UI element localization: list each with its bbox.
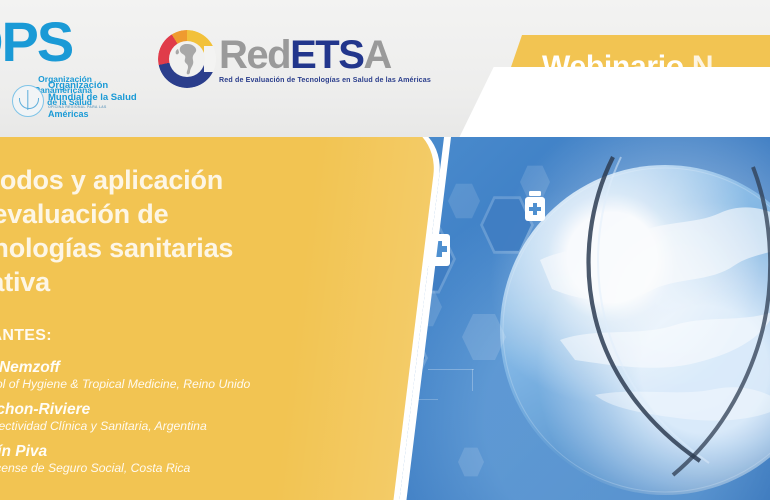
hexagon-shape	[448, 183, 480, 219]
americas-map-icon	[169, 41, 205, 77]
content-text: Métodos y aplicación de evaluación de te…	[0, 137, 440, 500]
who-line-2: Mundial de la Salud	[48, 92, 137, 104]
who-line-1: Organización	[48, 80, 137, 92]
webinario-banner: Webinario N	[500, 35, 770, 99]
ops-logo: OPS Organización Panamericana de la Salu…	[0, 14, 160, 124]
webinario-label: Webinario N	[542, 50, 713, 84]
redetsa-word-ets: ETS	[290, 33, 363, 77]
header-band: OPS Organización Panamericana de la Salu…	[0, 0, 770, 137]
americas-globe-ring-icon	[158, 30, 216, 88]
redetsa-word-a: A	[363, 33, 390, 77]
presenter-item: Alejandra Nemzoff London School of Hygie…	[0, 359, 394, 392]
presenter-item: Marío Marín Piva Caja Costarricense de S…	[0, 443, 394, 476]
presenter-affiliation: London School of Hygiene & Tropical Medi…	[0, 377, 394, 392]
presenter-name: Alejandra Nemzoff	[0, 359, 394, 377]
hexagon-shape	[462, 313, 506, 361]
redetsa-tagline: Red de Evaluación de Tecnologías en Salu…	[219, 76, 431, 84]
who-logo: Organización Mundial de la Salud OFICINA…	[12, 80, 137, 121]
presenter-affiliation: Instituto de Efectividad Clínica y Sanit…	[0, 419, 394, 434]
presenters-label: PRESENTANTES:	[0, 327, 52, 345]
redetsa-name: RedETSA	[219, 35, 431, 75]
medicine-bottle-icon	[520, 189, 550, 228]
webinario-word: Webinario	[542, 50, 684, 83]
title-line-3: tecnologías sanitarias	[0, 231, 374, 265]
tech-line	[472, 369, 473, 391]
presenter-name: Andrés Pichon-Riviere	[0, 401, 394, 419]
presenter-item: Andrés Pichon-Riviere Instituto de Efect…	[0, 401, 394, 434]
body-area: Métodos y aplicación de evaluación de te…	[0, 137, 770, 500]
presenter-name: Marío Marín Piva	[0, 443, 394, 461]
title-line-2: de evaluación de	[0, 197, 374, 231]
presenter-affiliation: Caja Costarricense de Seguro Social, Cos…	[0, 461, 394, 476]
title-line-4: rotativa	[0, 265, 374, 299]
webinario-number: N	[692, 50, 713, 83]
redetsa-wordmark: RedETSA Red de Evaluación de Tecnologías…	[219, 35, 431, 84]
redetsa-logo: RedETSA Red de Evaluación de Tecnologías…	[158, 22, 431, 96]
ops-acronym: OPS	[0, 14, 72, 70]
who-rod-of-asclepius-icon	[12, 85, 44, 117]
webinar-banner-slide: OPS Organización Panamericana de la Salu…	[0, 0, 770, 500]
who-label: Organización Mundial de la Salud OFICINA…	[48, 80, 137, 121]
title-line-1: Métodos y aplicación	[0, 163, 374, 197]
who-americas: Américas	[48, 109, 137, 121]
presenters-list: Alejandra Nemzoff London School of Hygie…	[0, 359, 394, 485]
hexagon-shape	[458, 447, 484, 477]
redetsa-word-red: Red	[219, 33, 290, 77]
page-title: Métodos y aplicación de evaluación de te…	[0, 163, 374, 299]
